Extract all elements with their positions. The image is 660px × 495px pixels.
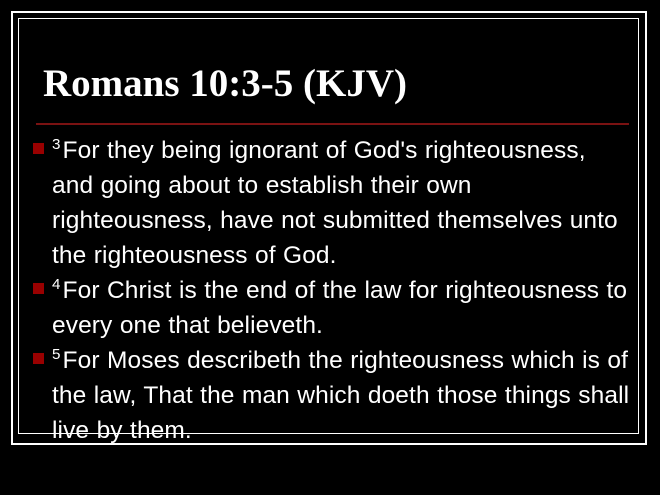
square-bullet-icon	[33, 143, 44, 154]
verse-number: 5	[52, 346, 63, 363]
square-bullet-icon	[33, 283, 44, 294]
square-bullet-icon	[33, 353, 44, 364]
list-item: 4For Christ is the end of the law for ri…	[32, 273, 632, 343]
verse-text: For they being ignorant of God's righteo…	[52, 137, 618, 269]
bullet-text: 5For Moses describeth the righteousness …	[52, 347, 629, 444]
slide-body: 3For they being ignorant of God's righte…	[32, 133, 632, 448]
presentation-slide: Romans 10:3-5 (KJV) 3For they being igno…	[0, 0, 660, 495]
verse-text: For Christ is the end of the law for rig…	[52, 277, 627, 339]
verse-number: 4	[52, 276, 63, 293]
verse-number: 3	[52, 136, 63, 153]
bullet-text: 4For Christ is the end of the law for ri…	[52, 277, 627, 339]
verse-text: For Moses describeth the righteousness w…	[52, 347, 629, 444]
slide-title: Romans 10:3-5 (KJV)	[43, 62, 633, 106]
list-item: 3For they being ignorant of God's righte…	[32, 133, 632, 273]
bullet-text: 3For they being ignorant of God's righte…	[52, 137, 618, 269]
list-item: 5For Moses describeth the righteousness …	[32, 343, 632, 448]
title-divider-rule	[36, 123, 629, 125]
